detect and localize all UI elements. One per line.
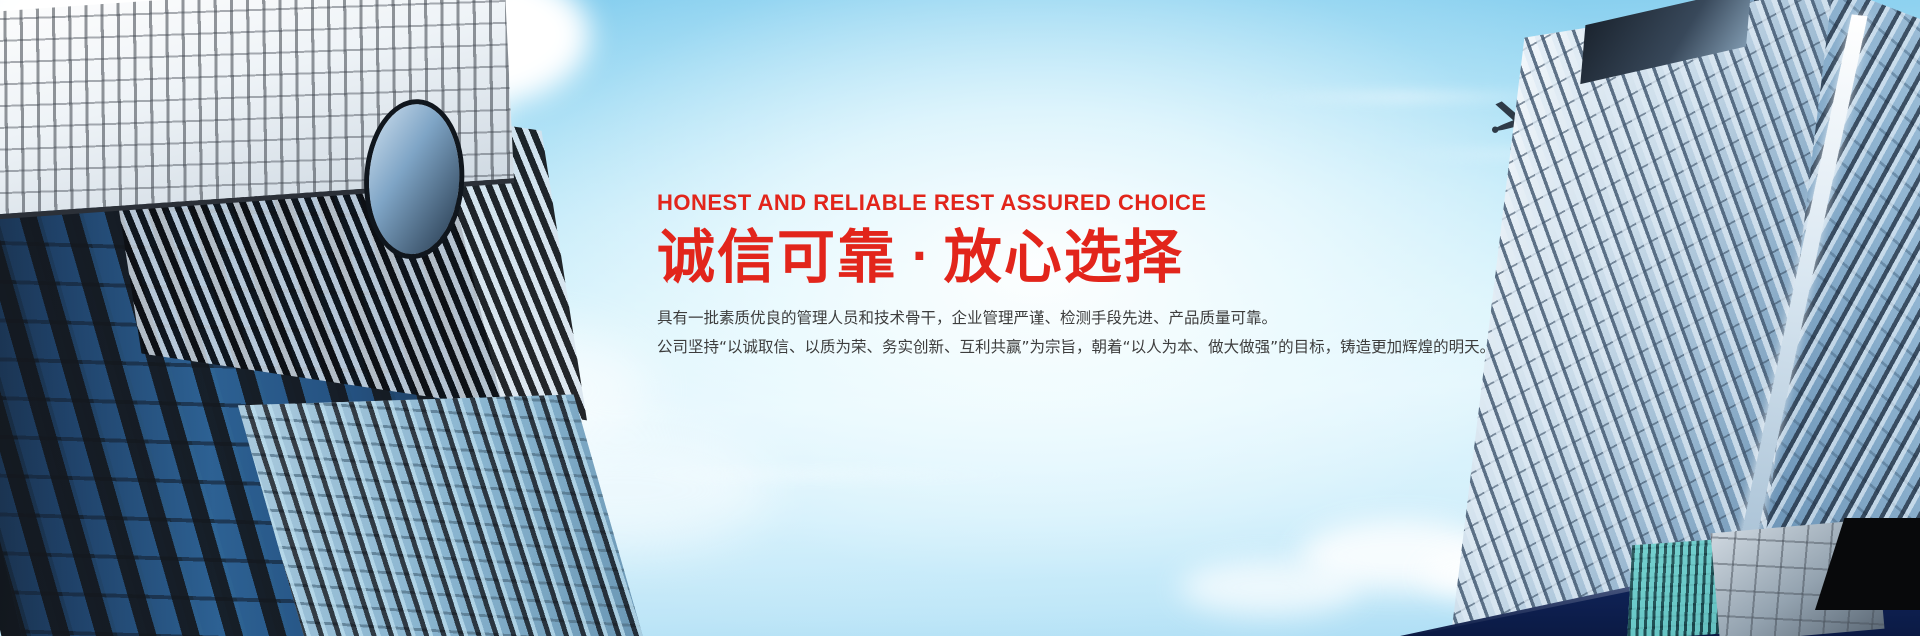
headline-left-text: 诚信可靠 [657,223,897,291]
banner-body-line-1: 具有一批素质优良的管理人员和技术骨干，企业管理严谨、检测手段先进、产品质量可靠。 [657,304,1377,333]
banner-headline: 诚信可靠·放心选择 [657,225,1377,290]
headline-right-text: 放心选择 [944,223,1184,291]
cloud-icon [1180,560,1360,615]
hero-banner: HONEST AND RELIABLE REST ASSURED CHOICE … [0,0,1920,636]
banner-copy-block: HONEST AND RELIABLE REST ASSURED CHOICE … [657,190,1377,362]
left-skyscraper [0,0,711,636]
banner-body: 具有一批素质优良的管理人员和技术骨干，企业管理严谨、检测手段先进、产品质量可靠。… [657,304,1377,361]
banner-body-line-2: 公司坚持“以诚取信、以质为荣、务实创新、互利共赢”为宗旨，朝着“以人为本、做大做… [657,333,1377,362]
headline-separator: · [897,231,944,282]
banner-eyebrow: HONEST AND RELIABLE REST ASSURED CHOICE [657,190,1377,216]
background-building [238,394,657,636]
